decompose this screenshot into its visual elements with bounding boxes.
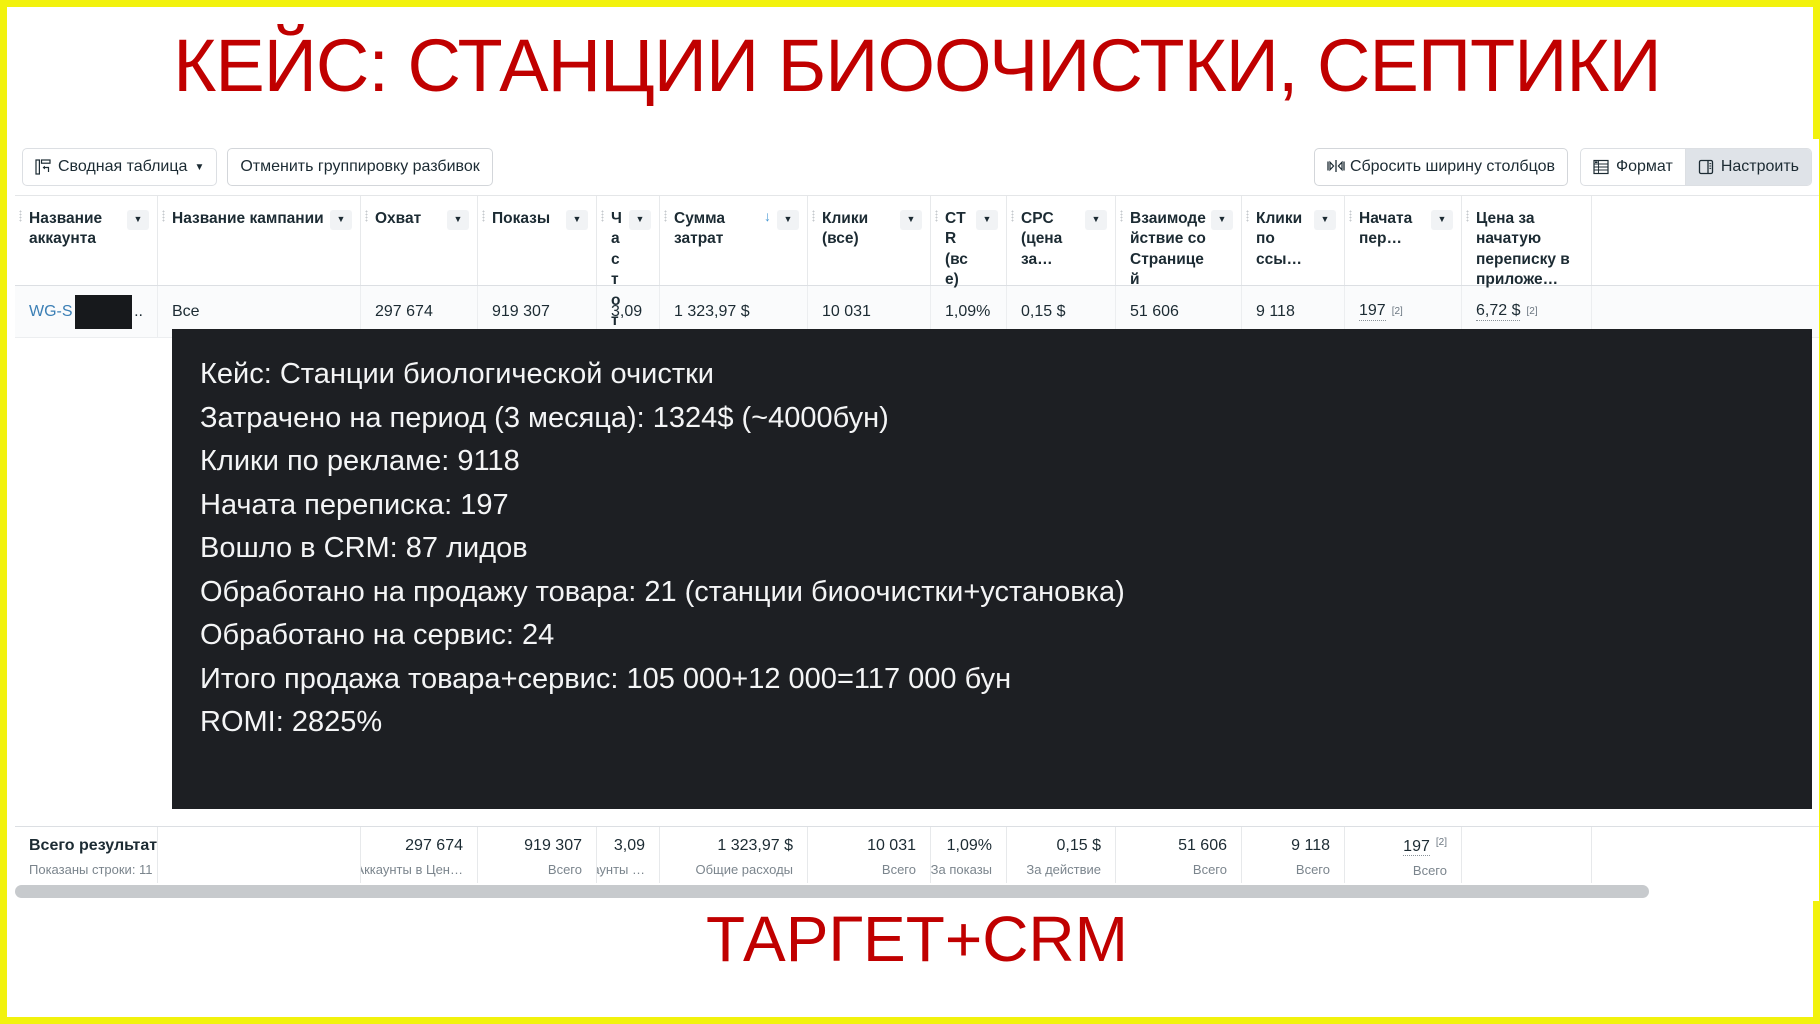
column-menu-chevron-down-icon[interactable]: ▼ xyxy=(1085,210,1107,230)
totals-value: 1,09% xyxy=(947,837,992,855)
column-header-label: CPC (цена за… xyxy=(1021,209,1081,270)
overlay-text-line: Начата переписка: 197 xyxy=(200,484,1812,528)
column-menu-chevron-down-icon[interactable]: ▼ xyxy=(1431,210,1453,230)
format-configure-group: Формат Настроить xyxy=(1580,148,1812,186)
column-resize-grip[interactable] xyxy=(1466,210,1469,222)
column-header[interactable]: Показы▼ xyxy=(478,196,597,285)
horizontal-scrollbar[interactable] xyxy=(15,883,1819,901)
totals-sublabel: Общие расходы xyxy=(695,862,793,877)
column-menu-chevron-down-icon[interactable]: ▼ xyxy=(777,210,799,230)
column-resize-grip[interactable] xyxy=(365,210,368,222)
account-name-link[interactable]: WG-S xyxy=(29,303,73,321)
table-header-row: Название аккаунта▼Название кампании▼Охва… xyxy=(15,196,1819,286)
column-header[interactable]: CTR (все)▼ xyxy=(931,196,1007,285)
column-header-label: Цена за начатую переписку в приложе… xyxy=(1476,209,1583,291)
totals-value: 9 118 xyxy=(1291,837,1330,855)
conversations-value: 197 xyxy=(1359,302,1386,321)
column-header-label: Клики (все) xyxy=(822,209,896,250)
column-resize-grip[interactable] xyxy=(601,210,604,222)
column-menu-chevron-down-icon[interactable]: ▼ xyxy=(127,210,149,230)
column-header[interactable]: Охват▼ xyxy=(361,196,478,285)
table-toolbar: Сводная таблица ▼ Отменить группировку р… xyxy=(15,139,1819,195)
column-header-label: Сумма затрат xyxy=(674,209,760,250)
configure-panel-icon xyxy=(1698,159,1714,175)
column-header[interactable]: Клики (все)▼ xyxy=(808,196,931,285)
sort-descending-icon[interactable]: ↓ xyxy=(764,209,771,224)
configure-label: Настроить xyxy=(1721,158,1799,176)
overlay-text-line: Обработано на продажу товара: 21 (станци… xyxy=(200,571,1812,615)
footnote-marker: [2] xyxy=(1436,837,1447,848)
column-header[interactable]: Начата пер…▼ xyxy=(1345,196,1462,285)
column-header[interactable]: Название аккаунта▼ xyxy=(15,196,158,285)
column-resize-grip[interactable] xyxy=(1120,210,1123,222)
column-header[interactable]: CPC (цена за…▼ xyxy=(1007,196,1116,285)
redaction-box xyxy=(75,295,133,329)
totals-cell: 1,09%За показы xyxy=(931,827,1007,891)
cost-per-conversation-value: 6,72 $ xyxy=(1476,302,1520,321)
totals-value: 10 031 xyxy=(867,837,916,855)
totals-sublabel: Аккаунты в Цен… xyxy=(361,862,463,877)
column-menu-chevron-down-icon[interactable]: ▼ xyxy=(629,210,651,230)
column-menu-chevron-down-icon[interactable]: ▼ xyxy=(566,210,588,230)
slide-footline: ТАРГЕТ+CRM xyxy=(7,907,1820,971)
column-menu-chevron-down-icon[interactable]: ▼ xyxy=(1314,210,1336,230)
format-button[interactable]: Формат xyxy=(1581,149,1685,185)
totals-sublabel: Всего xyxy=(548,862,582,877)
totals-cell: 1 323,97 $Общие расходы xyxy=(660,827,808,891)
totals-cell: 919 307Всего xyxy=(478,827,597,891)
column-resize-grip[interactable] xyxy=(162,210,165,222)
overlay-text-line: Итого продажа товара+сервис: 105 000+12 … xyxy=(200,658,1812,702)
totals-label-cell: Всего результатоПоказаны строки: 11 xyxy=(15,827,158,891)
overlay-text-line: Обработано на сервис: 24 xyxy=(200,614,1812,658)
column-header-label: Показы xyxy=(492,209,562,229)
totals-cell xyxy=(1462,827,1592,891)
totals-rows-shown: Показаны строки: 11 xyxy=(29,862,153,877)
totals-sublabel: За аккаунты … xyxy=(597,862,645,877)
configure-button[interactable]: Настроить xyxy=(1685,149,1811,185)
column-header-label: Взаимодействие со Страницей xyxy=(1130,209,1207,291)
column-header[interactable]: Сумма затрат↓▼ xyxy=(660,196,808,285)
footnote-marker: [2] xyxy=(1526,306,1537,317)
column-header[interactable]: Цена за начатую переписку в приложе… xyxy=(1462,196,1592,285)
slide-frame: КЕЙС: СТАНЦИИ БИООЧИСТКИ, СЕПТИКИ Сводна… xyxy=(0,0,1820,1024)
totals-cell: 0,15 $За действие xyxy=(1007,827,1116,891)
account-name-ellipsis: .. xyxy=(134,303,143,321)
totals-value: 1 323,97 $ xyxy=(717,837,793,855)
reset-column-width-label: Сбросить ширину столбцов xyxy=(1350,158,1555,176)
pivot-table-button[interactable]: Сводная таблица ▼ xyxy=(22,148,217,186)
totals-sublabel: Всего xyxy=(1413,863,1447,878)
column-menu-chevron-down-icon[interactable]: ▼ xyxy=(330,210,352,230)
scrollbar-thumb[interactable] xyxy=(15,885,1649,898)
column-header-label: Клики по ссы… xyxy=(1256,209,1310,270)
totals-value: 51 606 xyxy=(1178,837,1227,855)
column-menu-chevron-down-icon[interactable]: ▼ xyxy=(1211,210,1233,230)
column-resize-grip[interactable] xyxy=(935,210,938,222)
overlay-text-line: Кейс: Станции биологической очистки xyxy=(200,353,1812,397)
slide-headline: КЕЙС: СТАНЦИИ БИООЧИСТКИ, СЕПТИКИ xyxy=(7,29,1820,103)
totals-value: 297 674 xyxy=(405,837,463,855)
totals-sublabel: Всего xyxy=(882,862,916,877)
totals-cell: 297 674Аккаунты в Цен… xyxy=(361,827,478,891)
totals-cell xyxy=(158,827,361,891)
footnote-marker: [2] xyxy=(1392,306,1403,317)
totals-sublabel: За действие xyxy=(1026,862,1101,877)
column-header-label: Название аккаунта xyxy=(29,209,123,250)
totals-value: 197[2] xyxy=(1403,837,1447,856)
totals-cell: 9 118Всего xyxy=(1242,827,1345,891)
column-header[interactable]: Взаимодействие со Страницей▼ xyxy=(1116,196,1242,285)
overlay-text-line: Затрачено на период (3 месяца): 1324$ (~… xyxy=(200,397,1812,441)
case-summary-overlay: Кейс: Станции биологической очисткиЗатра… xyxy=(172,329,1812,809)
totals-sublabel: Всего xyxy=(1296,862,1330,877)
column-resize-grip[interactable] xyxy=(664,210,667,222)
column-header-label: CTR (все) xyxy=(945,209,972,291)
totals-value: 3,09 xyxy=(614,837,645,855)
column-resize-grip[interactable] xyxy=(1011,210,1014,222)
format-grid-icon xyxy=(1593,159,1609,175)
overlay-text-line: ROMI: 2825% xyxy=(200,701,1812,745)
totals-value: 0,15 $ xyxy=(1057,837,1101,855)
totals-cell: 3,09За аккаунты … xyxy=(597,827,660,891)
ungroup-breakdowns-button[interactable]: Отменить группировку разбивок xyxy=(227,148,492,186)
column-header-label: Начата пер… xyxy=(1359,209,1427,250)
column-resize-grip[interactable] xyxy=(482,210,485,222)
column-resize-grip[interactable] xyxy=(1349,210,1352,222)
totals-sublabel: За показы xyxy=(931,862,992,877)
column-header[interactable]: Название кампании▼ xyxy=(158,196,361,285)
column-header[interactable]: Частота▼ xyxy=(597,196,660,285)
column-header-label: Название кампании xyxy=(172,209,326,229)
ungroup-breakdowns-label: Отменить группировку разбивок xyxy=(240,158,479,176)
cell-account-name: WG-S.. xyxy=(15,286,158,337)
column-header-label: Охват xyxy=(375,209,443,229)
overlay-text-line: Вошло в CRM: 87 лидов xyxy=(200,527,1812,571)
reset-column-width-button[interactable]: Сбросить ширину столбцов xyxy=(1314,148,1568,186)
column-resize-grip[interactable] xyxy=(19,210,22,222)
column-menu-chevron-down-icon[interactable]: ▼ xyxy=(976,210,998,230)
chevron-down-icon: ▼ xyxy=(194,162,204,173)
totals-title: Всего результато xyxy=(29,837,158,855)
pivot-table-icon xyxy=(35,159,51,175)
overlay-text-line: Клики по рекламе: 9118 xyxy=(200,440,1812,484)
pivot-table-label: Сводная таблица xyxy=(58,158,187,176)
column-resize-grip[interactable] xyxy=(812,210,815,222)
column-resize-grip[interactable] xyxy=(1246,210,1249,222)
totals-cell: 51 606Всего xyxy=(1116,827,1242,891)
column-header[interactable]: Клики по ссы…▼ xyxy=(1242,196,1345,285)
totals-value: 919 307 xyxy=(524,837,582,855)
totals-cell: 10 031Всего xyxy=(808,827,931,891)
column-menu-chevron-down-icon[interactable]: ▼ xyxy=(447,210,469,230)
format-label: Формат xyxy=(1616,158,1673,176)
column-menu-chevron-down-icon[interactable]: ▼ xyxy=(900,210,922,230)
reset-width-icon xyxy=(1327,159,1343,175)
totals-sublabel: Всего xyxy=(1193,862,1227,877)
totals-cell: 197[2]Всего xyxy=(1345,827,1462,891)
